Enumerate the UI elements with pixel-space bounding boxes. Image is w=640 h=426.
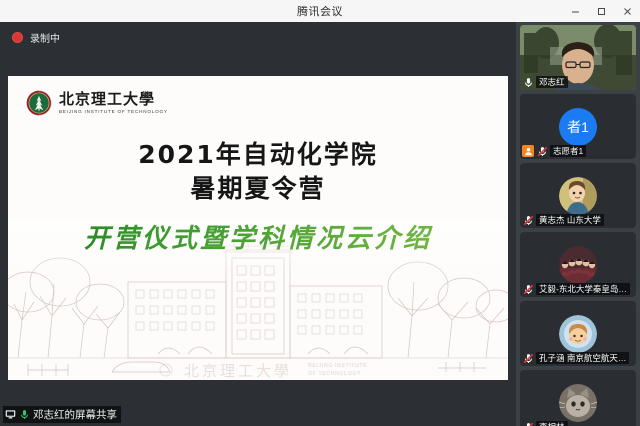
participant-name: 志愿者1 <box>550 145 586 157</box>
participant-tile[interactable]: 李相林 <box>520 370 636 426</box>
close-icon <box>622 6 633 17</box>
close-button[interactable] <box>614 0 640 22</box>
share-attribution-chip: 邓志红的屏幕共享 <box>3 406 121 423</box>
presentation-slide: 北京理工大學 BEIJING INSTITUTE OF TECHNOLOGY <box>8 76 508 380</box>
minimize-button[interactable] <box>562 0 588 22</box>
monitor-icon <box>5 409 16 420</box>
participant-avatar <box>559 315 597 353</box>
participant-name: 李相林 <box>536 421 568 426</box>
mic-muted-icon <box>522 283 534 295</box>
mic-muted-icon <box>522 421 534 426</box>
participant-tile[interactable]: 邓志红 <box>520 25 636 90</box>
share-status-bar: 邓志红的屏幕共享 <box>0 402 516 426</box>
window-controls <box>562 0 640 22</box>
participant-tile[interactable]: 者1 志愿者1 <box>520 94 636 159</box>
participant-avatar <box>559 177 597 215</box>
host-badge-icon <box>522 145 534 157</box>
participant-tile[interactable]: 孔子涵 南京航空航天… <box>520 301 636 366</box>
share-owner-label: 邓志红的屏幕共享 <box>33 407 117 422</box>
participant-name: 艾毅-东北大学秦皇岛… <box>536 283 630 295</box>
avatar-image <box>559 246 597 284</box>
recording-indicator-bar: 录制中 <box>0 22 516 52</box>
participant-footer: 艾毅-东北大学秦皇岛… <box>522 283 630 295</box>
avatar-image <box>559 315 597 353</box>
participant-avatar: 者1 <box>559 108 597 146</box>
microphone-icon <box>19 409 30 420</box>
avatar-initials: 者1 <box>567 117 589 137</box>
participant-footer: 孔子涵 南京航空航天… <box>522 352 629 364</box>
participant-avatar <box>559 384 597 422</box>
participant-name: 孔子涵 南京航空航天… <box>536 352 629 364</box>
avatar-image <box>559 384 597 422</box>
mic-muted-icon <box>536 145 548 157</box>
maximize-button[interactable] <box>588 0 614 22</box>
participant-name: 邓志红 <box>536 76 568 88</box>
participant-footer: 志愿者1 <box>522 145 586 157</box>
window-title: 腾讯会议 <box>297 3 343 19</box>
slide-title: 2021年自动化学院 暑期夏令营 <box>8 138 508 206</box>
participant-footer: 黄志杰 山东大学 <box>522 214 604 226</box>
slide-title-line-1: 2021年自动化学院 <box>8 138 508 172</box>
participant-tile[interactable]: 黄志杰 山东大学 <box>520 163 636 228</box>
logo-text-chinese: 北京理工大學 <box>59 92 168 108</box>
participant-tile[interactable]: 艾毅-东北大学秦皇岛… <box>520 232 636 297</box>
mic-muted-icon <box>522 352 534 364</box>
maximize-icon <box>596 6 607 17</box>
slide-title-line-2: 暑期夏令营 <box>8 172 508 206</box>
participant-name: 黄志杰 山东大学 <box>536 214 604 226</box>
participant-footer: 李相林 <box>522 421 568 426</box>
avatar-image <box>559 177 597 215</box>
mic-on-icon <box>522 76 534 88</box>
mic-muted-icon <box>522 214 534 226</box>
minimize-icon <box>570 6 581 17</box>
university-logo: 北京理工大學 BEIJING INSTITUTE OF TECHNOLOGY <box>26 90 168 116</box>
bit-seal-icon <box>26 90 52 116</box>
recording-label: 录制中 <box>30 30 60 45</box>
slide-subtitle: 开营仪式暨学科情况云介绍 <box>8 218 508 255</box>
participant-avatar <box>559 246 597 284</box>
window-titlebar: 腾讯会议 <box>0 0 640 23</box>
participant-footer: 邓志红 <box>522 76 568 88</box>
tencent-meeting-window: 腾讯会议 录制中 <box>0 0 640 426</box>
participant-rail[interactable]: 邓志红 者1 <box>516 22 640 426</box>
shared-screen-stage: 录制中 <box>0 22 516 426</box>
recording-dot-icon <box>12 32 23 43</box>
logo-text-english: BEIJING INSTITUTE OF TECHNOLOGY <box>59 109 168 114</box>
